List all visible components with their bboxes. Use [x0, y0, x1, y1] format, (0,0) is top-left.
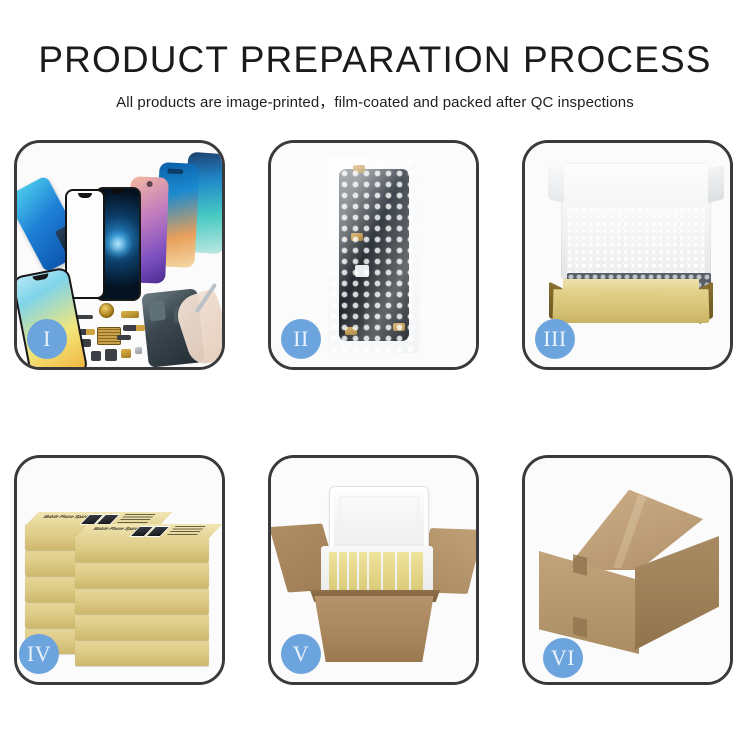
label-spec-lines — [117, 514, 156, 523]
step-numeral-2: II — [293, 326, 309, 352]
list-item — [349, 552, 357, 596]
list-item — [397, 552, 409, 596]
list-item — [383, 552, 395, 596]
step-numeral-1: I — [43, 326, 51, 352]
step-badge-5: V — [281, 634, 321, 674]
open-kraft-box — [543, 161, 719, 341]
process-steps-grid: I II — [14, 140, 736, 685]
process-step-panel-5: V — [268, 455, 479, 685]
process-step-panel-4: Mobile Phone Spare Parts Mobile Phone Sp… — [14, 455, 225, 685]
step-badge-4: IV — [19, 634, 59, 674]
carton-tape-mark-upper — [573, 554, 587, 575]
step-badge-2: II — [281, 319, 321, 359]
kraft-tray-front — [552, 289, 709, 323]
process-step-panel-6: VI — [522, 455, 733, 685]
step-numeral-3: III — [543, 326, 566, 352]
label-spec-lines — [167, 526, 206, 535]
page-title: PRODUCT PREPARATION PROCESS — [0, 38, 750, 82]
labelled-box-top-front: Mobile Phone Spare Parts — [75, 536, 209, 562]
step-badge-1: I — [27, 319, 67, 359]
antenna-strip-icon — [117, 335, 131, 340]
step-badge-6: VI — [543, 638, 583, 678]
page-subtitle: All products are image-printed，film-coat… — [0, 91, 750, 112]
small-parts-cluster — [73, 303, 165, 367]
list-item — [75, 614, 209, 640]
box-label: Mobile Phone Spare Parts — [85, 524, 210, 537]
gold-shield-icon — [121, 349, 131, 358]
process-step-panel-1: I — [14, 140, 225, 370]
list-item — [369, 552, 381, 596]
list-item — [359, 552, 367, 596]
carton-tape-mark-lower — [573, 616, 587, 637]
screw-icon — [135, 347, 142, 354]
list-item — [75, 640, 209, 666]
speaker-coil-icon — [99, 303, 114, 318]
carton-front-panel — [303, 596, 445, 662]
flex-cable-2-icon — [123, 325, 145, 331]
gold-bracket-icon — [121, 311, 139, 318]
header: PRODUCT PREPARATION PROCESS All products… — [0, 38, 750, 112]
list-item — [339, 552, 347, 596]
list-item — [75, 562, 209, 588]
process-step-panel-2: II — [268, 140, 479, 370]
step-numeral-4: IV — [27, 641, 51, 667]
camera-module-icon — [91, 351, 101, 361]
list-item — [411, 552, 423, 596]
packed-retail-boxes — [329, 552, 425, 596]
plastic-sheen-overlay — [328, 157, 420, 353]
bubble-wrap-bag — [328, 157, 420, 353]
step-numeral-6: VI — [551, 645, 575, 671]
vibrator-icon — [105, 349, 117, 361]
list-item — [329, 552, 337, 596]
foam-box-lid — [329, 486, 429, 552]
process-step-panel-3: III — [522, 140, 733, 370]
infographic-root: PRODUCT PREPARATION PROCESS All products… — [0, 0, 750, 750]
foam-sheet — [567, 207, 705, 277]
list-item — [75, 588, 209, 614]
step-numeral-5: V — [293, 641, 309, 667]
step-badge-3: III — [535, 319, 575, 359]
